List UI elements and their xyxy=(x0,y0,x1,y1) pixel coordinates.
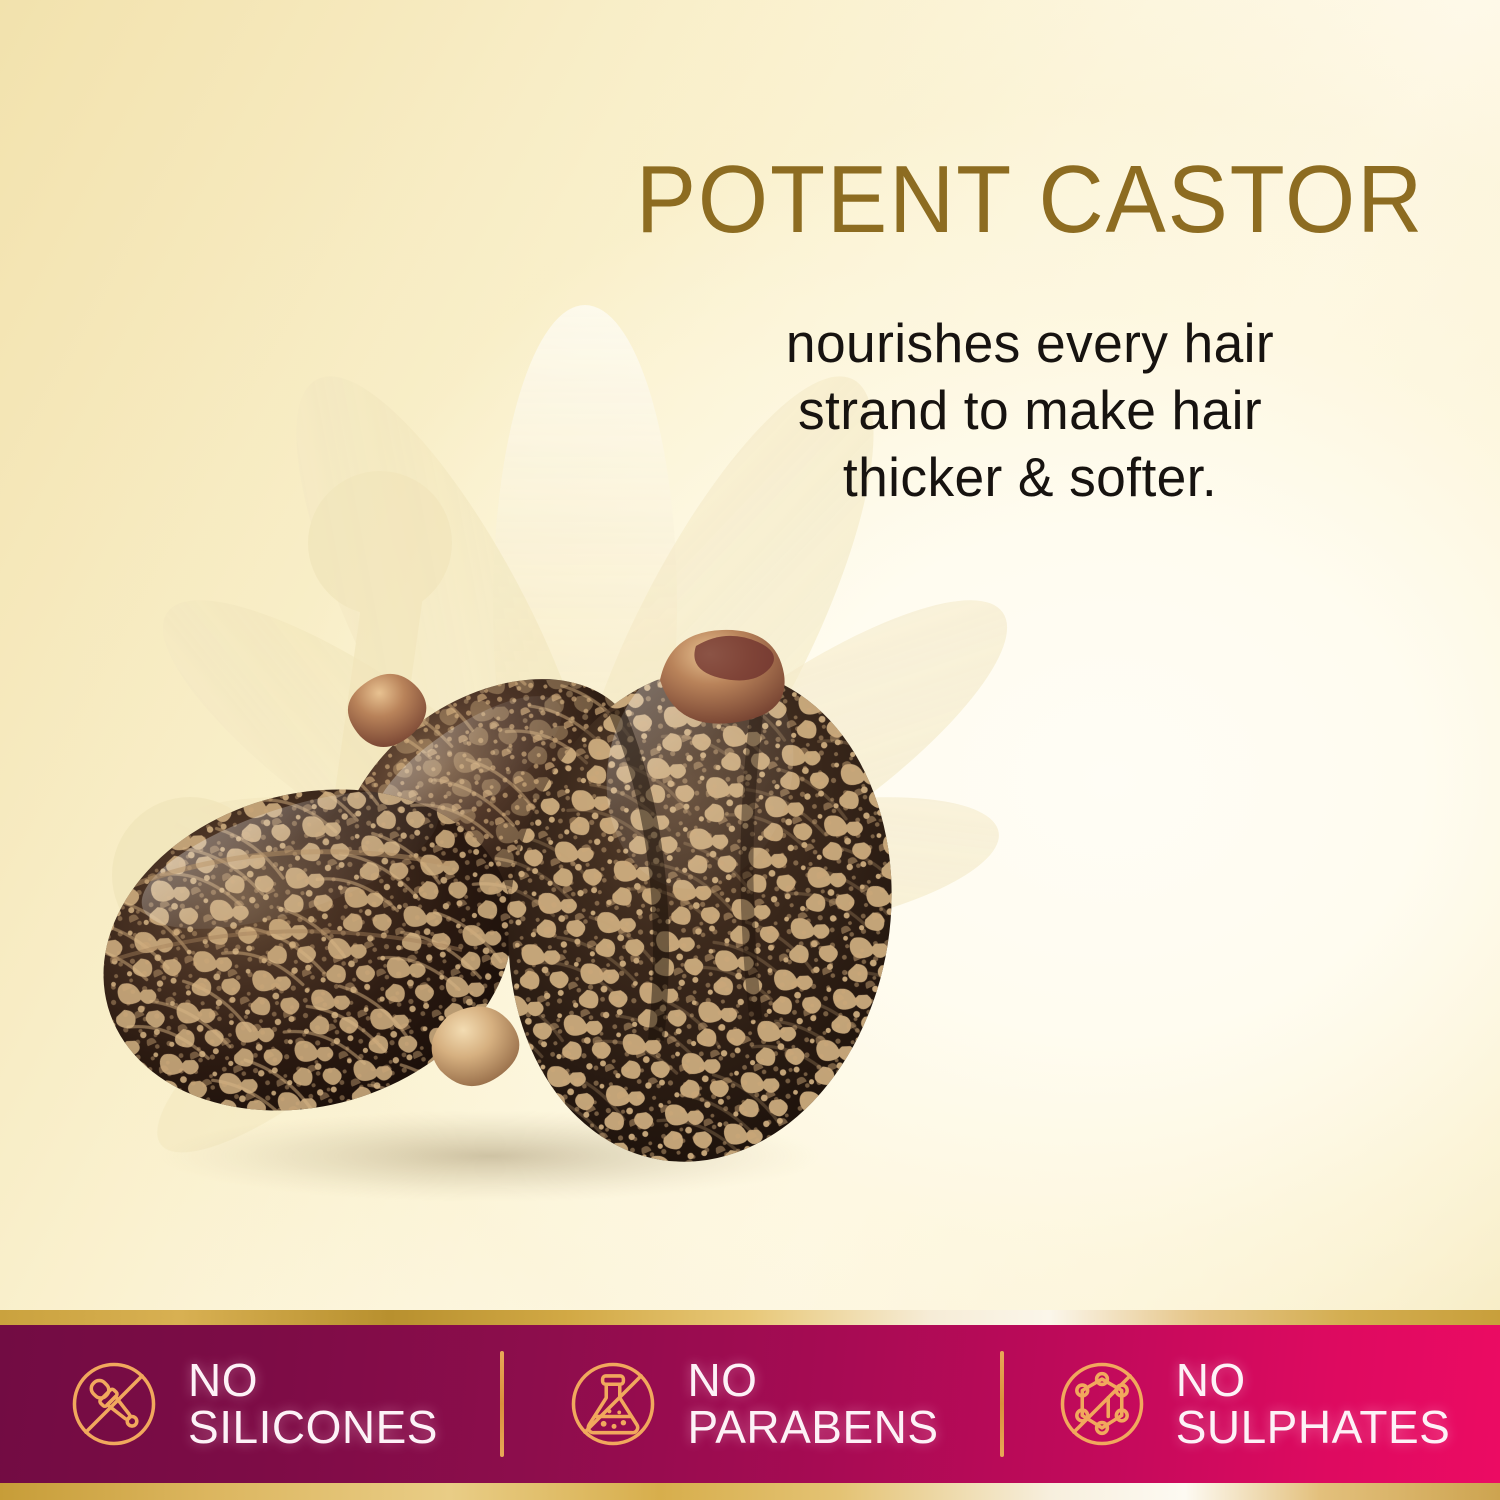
page-title: POTENT CASTOR xyxy=(588,150,1472,250)
benefit-line-3: thicker & softer. xyxy=(574,444,1486,511)
castor-seeds-image xyxy=(60,560,980,1240)
banner-gold-rule-top xyxy=(0,1310,1500,1325)
claim-no-sulphates: NO SULPHATES xyxy=(1000,1325,1500,1483)
no-sulphates-molecule-icon xyxy=(1050,1352,1154,1456)
claim-label-no-parabens: NO PARABENS xyxy=(687,1357,938,1451)
claims-strip: NO SILICONES xyxy=(0,1325,1500,1483)
benefit-line-1: nourishes every hair xyxy=(574,310,1486,377)
benefit-description: nourishes every hair strand to make hair… xyxy=(574,310,1486,511)
product-benefit-poster: POTENT CASTOR nourishes every hair stran… xyxy=(0,0,1500,1500)
claim-label-no-silicones: NO SILICONES xyxy=(188,1357,438,1451)
headline-block: POTENT CASTOR nourishes every hair stran… xyxy=(560,150,1500,511)
banner-gold-rule-bottom xyxy=(0,1483,1500,1500)
claim-no-parabens: NO PARABENS xyxy=(500,1325,1000,1483)
benefit-line-2: strand to make hair xyxy=(574,377,1486,444)
free-from-claims-banner: NO SILICONES xyxy=(0,1310,1500,1500)
claim-label-no-sulphates: NO SULPHATES xyxy=(1176,1357,1451,1451)
claim-no-silicones: NO SILICONES xyxy=(0,1325,500,1483)
no-silicones-dropper-icon xyxy=(62,1352,166,1456)
no-parabens-flask-icon xyxy=(561,1352,665,1456)
